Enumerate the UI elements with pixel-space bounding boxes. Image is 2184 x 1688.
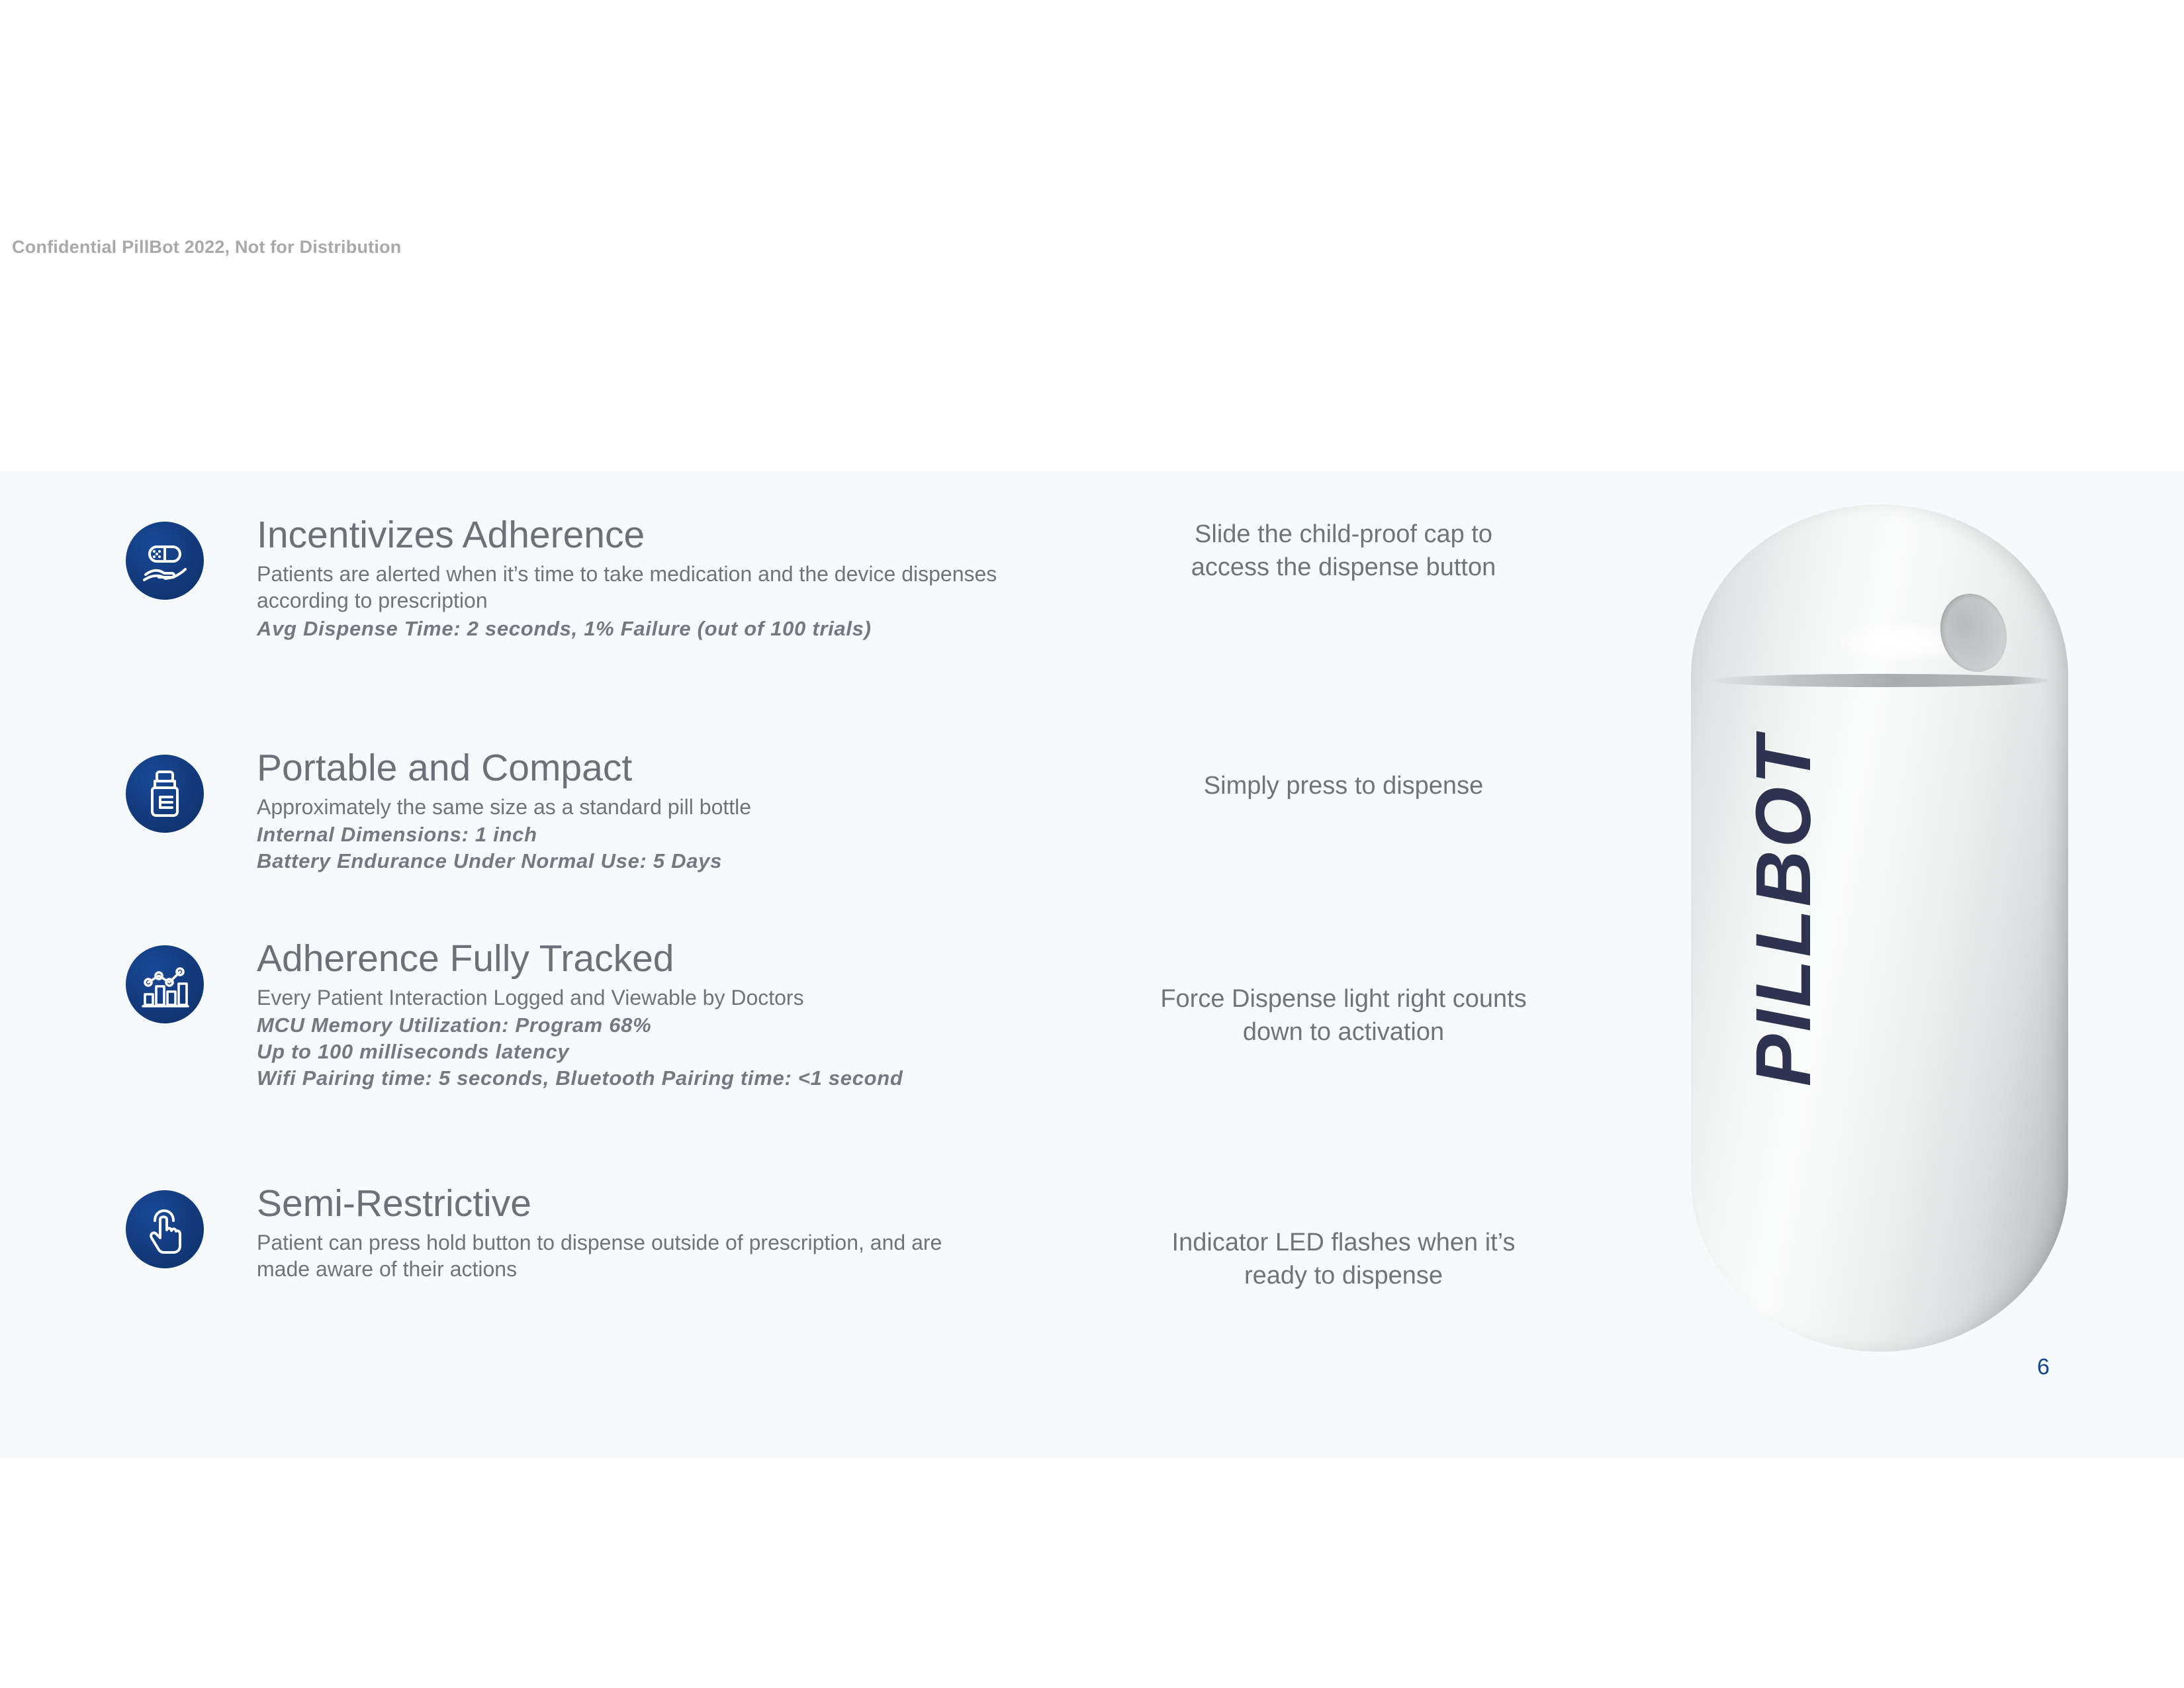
feature-item: Semi-Restrictive Patient can press hold … — [126, 1185, 1066, 1317]
spec-line: Wifi Pairing time: 5 seconds, Bluetooth … — [257, 1065, 998, 1092]
tap-hand-icon — [126, 1190, 204, 1268]
feature-title: Portable and Compact — [257, 749, 1066, 787]
spec-line: Up to 100 milliseconds latency — [257, 1039, 998, 1065]
device-cap-seam — [1708, 674, 2051, 687]
feature-specs: MCU Memory Utilization: Program 68% Up t… — [257, 1012, 998, 1092]
feature-title: Adherence Fully Tracked — [257, 940, 1066, 978]
feature-list: Incentivizes Adherence Patients are aler… — [126, 516, 1066, 1337]
bar-chart-trend-icon — [126, 945, 204, 1023]
pill-in-hand-icon — [126, 522, 204, 600]
feature-item: Portable and Compact Approximately the s… — [126, 749, 1066, 920]
confidential-notice: Confidential PillBot 2022, Not for Distr… — [12, 237, 401, 258]
callout-press-dispense: Simply press to dispense — [1158, 769, 1529, 802]
spec-line: Battery Endurance Under Normal Use: 5 Da… — [257, 848, 998, 874]
feature-description: Approximately the same size as a standar… — [257, 794, 998, 820]
feature-specs: Internal Dimensions: 1 inch Battery Endu… — [257, 821, 998, 874]
spec-line: Avg Dispense Time: 2 seconds, 1% Failure… — [257, 616, 998, 642]
device-label: PILLBOT — [1739, 692, 1829, 1129]
slide-header: PillBot Device Helps Patients Stick to P… — [0, 285, 2184, 471]
feature-specs: Avg Dispense Time: 2 seconds, 1% Failure… — [257, 616, 998, 642]
feature-title: Semi-Restrictive — [257, 1185, 1066, 1223]
feature-item: Adherence Fully Tracked Every Patient In… — [126, 940, 1066, 1165]
feature-title: Incentivizes Adherence — [257, 516, 1066, 554]
feature-description: Patients are alerted when it’s time to t… — [257, 561, 998, 614]
callout-slide-cap: Slide the child-proof cap to access the … — [1158, 518, 1529, 584]
feature-description: Patient can press hold button to dispens… — [257, 1229, 998, 1283]
pill-bottle-icon — [126, 755, 204, 833]
callout-force-dispense-light: Force Dispense light right counts down t… — [1158, 982, 1529, 1049]
pillbot-device-image: PILLBOT — [1691, 504, 2068, 1352]
feature-description: Every Patient Interaction Logged and Vie… — [257, 984, 998, 1011]
feature-item: Incentivizes Adherence Patients are aler… — [126, 516, 1066, 729]
spec-line: Internal Dimensions: 1 inch — [257, 821, 998, 848]
callout-indicator-led: Indicator LED flashes when it’s ready to… — [1158, 1226, 1529, 1292]
page-number: 6 — [2037, 1354, 2050, 1380]
spec-line: MCU Memory Utilization: Program 68% — [257, 1012, 998, 1039]
